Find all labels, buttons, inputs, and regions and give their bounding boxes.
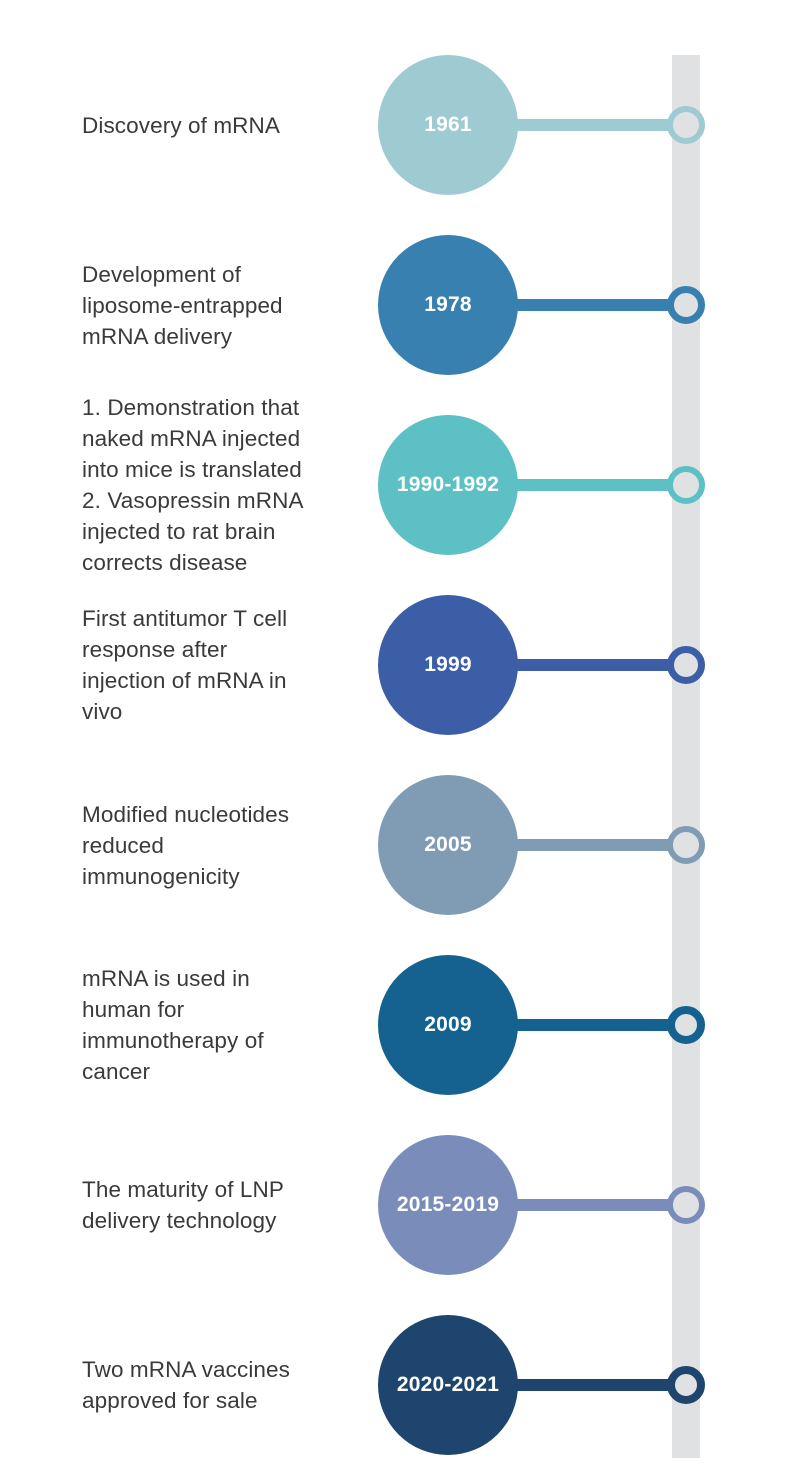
timeline-item-label: Two mRNA vaccinesapproved for sale bbox=[82, 1295, 350, 1475]
timeline-item-label-line: immunogenicity bbox=[82, 861, 240, 892]
timeline-item-label-line: naked mRNA injected bbox=[82, 423, 300, 454]
timeline-item-label-line: Modified nucleotides bbox=[82, 799, 289, 830]
timeline-year-bubble[interactable]: 1999 bbox=[378, 595, 518, 735]
timeline-item-label: Discovery of mRNA bbox=[82, 35, 350, 215]
timeline-year-bubble[interactable]: 1990-1992 bbox=[378, 415, 518, 555]
timeline-year-bubble[interactable]: 2020-2021 bbox=[378, 1315, 518, 1455]
timeline-node-ring-icon[interactable] bbox=[667, 1006, 705, 1044]
timeline-year-label: 2005 bbox=[424, 833, 472, 857]
timeline-item[interactable]: 1. Demonstration thatnaked mRNA injected… bbox=[0, 395, 796, 575]
timeline-item-label-line: response after bbox=[82, 634, 227, 665]
timeline-year-label: 1978 bbox=[424, 293, 472, 317]
timeline-item[interactable]: Development ofliposome-entrappedmRNA del… bbox=[0, 215, 796, 395]
timeline-item[interactable]: Discovery of mRNA1961 bbox=[0, 35, 796, 215]
timeline-item-label-line: reduced bbox=[82, 830, 164, 861]
timeline-item-label: Development ofliposome-entrappedmRNA del… bbox=[82, 215, 350, 395]
timeline-item-label-line: First antitumor T cell bbox=[82, 603, 287, 634]
timeline-item-label-line: cancer bbox=[82, 1056, 150, 1087]
timeline-node-ring-icon[interactable] bbox=[667, 826, 705, 864]
timeline-item[interactable]: The maturity of LNPdelivery technology20… bbox=[0, 1115, 796, 1295]
timeline-item-label-line: Two mRNA vaccines bbox=[82, 1354, 290, 1385]
timeline-year-label: 1961 bbox=[424, 113, 472, 137]
timeline-item[interactable]: Two mRNA vaccinesapproved for sale2020-2… bbox=[0, 1295, 796, 1475]
timeline-item-label-line: corrects disease bbox=[82, 547, 247, 578]
timeline-item-label: First antitumor T cellresponse afterinje… bbox=[82, 575, 350, 755]
timeline-item-label: The maturity of LNPdelivery technology bbox=[82, 1115, 350, 1295]
timeline-year-label: 2009 bbox=[424, 1013, 472, 1037]
timeline-node-ring-icon[interactable] bbox=[667, 466, 705, 504]
timeline-node-ring-icon[interactable] bbox=[667, 646, 705, 684]
timeline-item[interactable]: mRNA is used inhuman forimmunotherapy of… bbox=[0, 935, 796, 1115]
timeline-item-label-line: injected to rat brain bbox=[82, 516, 275, 547]
timeline-item-label-line: The maturity of LNP bbox=[82, 1174, 284, 1205]
timeline-year-label: 2015-2019 bbox=[397, 1193, 499, 1217]
timeline-item-label-line: into mice is translated bbox=[82, 454, 302, 485]
timeline-item-label-line: mRNA is used in bbox=[82, 963, 250, 994]
timeline-year-bubble[interactable]: 1978 bbox=[378, 235, 518, 375]
timeline-item-label-line: injection of mRNA in bbox=[82, 665, 287, 696]
timeline-item-label-line: vivo bbox=[82, 696, 122, 727]
timeline-year-bubble[interactable]: 2005 bbox=[378, 775, 518, 915]
timeline-node-ring-icon[interactable] bbox=[667, 1366, 705, 1404]
timeline-figure: Discovery of mRNA1961Development oflipos… bbox=[0, 0, 796, 1482]
timeline-item-label-line: Discovery of mRNA bbox=[82, 110, 280, 141]
timeline-node-ring-icon[interactable] bbox=[667, 286, 705, 324]
timeline-item-label-line: 2. Vasopressin mRNA bbox=[82, 485, 304, 516]
timeline-item-label-line: liposome-entrapped bbox=[82, 290, 283, 321]
timeline-item-label: 1. Demonstration thatnaked mRNA injected… bbox=[82, 395, 350, 575]
timeline-year-bubble[interactable]: 2015-2019 bbox=[378, 1135, 518, 1275]
timeline-year-bubble[interactable]: 1961 bbox=[378, 55, 518, 195]
timeline-item-label-line: immunotherapy of bbox=[82, 1025, 264, 1056]
timeline-item-label: Modified nucleotidesreducedimmunogenicit… bbox=[82, 755, 350, 935]
timeline-year-label: 2020-2021 bbox=[397, 1373, 499, 1397]
timeline-item-label-line: approved for sale bbox=[82, 1385, 258, 1416]
timeline-year-bubble[interactable]: 2009 bbox=[378, 955, 518, 1095]
timeline-year-label: 1999 bbox=[424, 653, 472, 677]
timeline-item-label-line: 1. Demonstration that bbox=[82, 392, 299, 423]
timeline-item-label-line: delivery technology bbox=[82, 1205, 277, 1236]
timeline-item-label-line: Development of bbox=[82, 259, 241, 290]
timeline-item[interactable]: First antitumor T cellresponse afterinje… bbox=[0, 575, 796, 755]
timeline-year-label: 1990-1992 bbox=[397, 473, 499, 497]
timeline-node-ring-icon[interactable] bbox=[667, 106, 705, 144]
timeline-item[interactable]: Modified nucleotidesreducedimmunogenicit… bbox=[0, 755, 796, 935]
timeline-item-label-line: mRNA delivery bbox=[82, 321, 232, 352]
timeline-item-label-line: human for bbox=[82, 994, 184, 1025]
timeline-item-label: mRNA is used inhuman forimmunotherapy of… bbox=[82, 935, 350, 1115]
timeline-node-ring-icon[interactable] bbox=[667, 1186, 705, 1224]
